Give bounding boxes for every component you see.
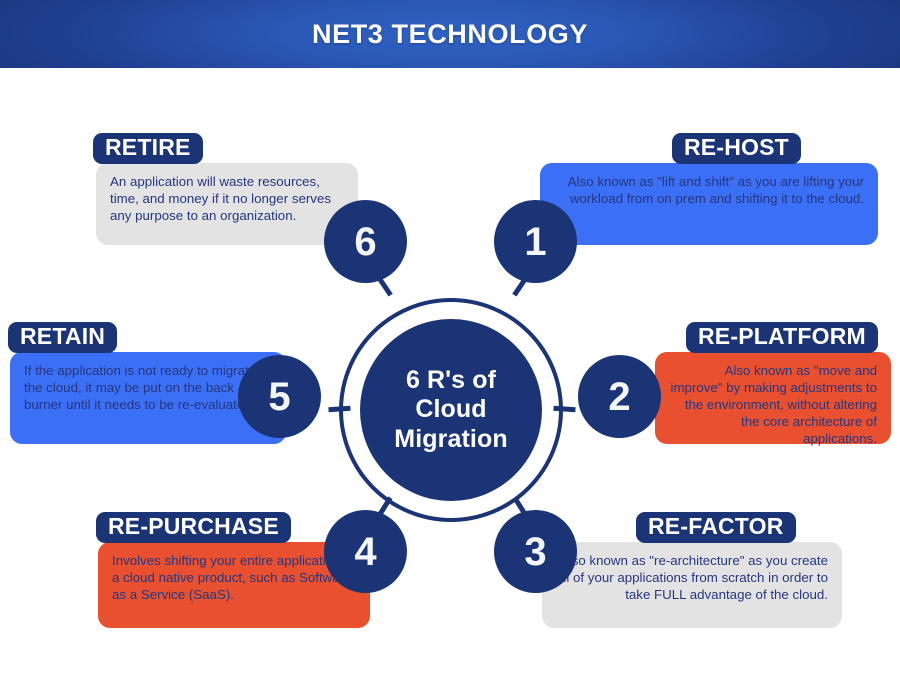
step-node-1[interactable]: 1 bbox=[494, 200, 577, 283]
step-number-4: 4 bbox=[354, 532, 376, 572]
card-label-retire[interactable]: RETIRE bbox=[93, 133, 203, 164]
page-title: NET3 TECHNOLOGY bbox=[0, 0, 900, 68]
step-number-6: 6 bbox=[354, 222, 376, 262]
card-label-replatform[interactable]: RE-PLATFORM bbox=[686, 322, 878, 353]
step-node-3[interactable]: 3 bbox=[494, 510, 577, 593]
card-label-retain[interactable]: RETAIN bbox=[8, 322, 117, 353]
card-body-refactor: Also known as "re-architecture" as you c… bbox=[542, 542, 842, 628]
hub-core-circle: 6 R's of Cloud Migration bbox=[360, 319, 542, 501]
card-body-retire: An application will waste resources, tim… bbox=[96, 163, 358, 245]
step-number-3: 3 bbox=[524, 532, 546, 572]
step-number-2: 2 bbox=[608, 377, 630, 417]
step-node-2[interactable]: 2 bbox=[578, 355, 661, 438]
card-label-rehost[interactable]: RE-HOST bbox=[672, 133, 801, 164]
step-node-4[interactable]: 4 bbox=[324, 510, 407, 593]
infographic-canvas: NET3 TECHNOLOGY 6 R's of Cloud Migration… bbox=[0, 0, 900, 675]
card-label-repurchase[interactable]: RE-PURCHASE bbox=[96, 512, 291, 543]
card-label-refactor[interactable]: RE-FACTOR bbox=[636, 512, 796, 543]
hub-title: 6 R's of Cloud Migration bbox=[394, 366, 507, 454]
step-number-5: 5 bbox=[268, 377, 290, 417]
step-node-6[interactable]: 6 bbox=[324, 200, 407, 283]
step-number-1: 1 bbox=[524, 222, 546, 262]
card-body-replatform: Also known as "move and improve" by maki… bbox=[655, 352, 891, 444]
card-body-rehost: Also known as "lift and shift" as you ar… bbox=[540, 163, 878, 245]
step-node-5[interactable]: 5 bbox=[238, 355, 321, 438]
